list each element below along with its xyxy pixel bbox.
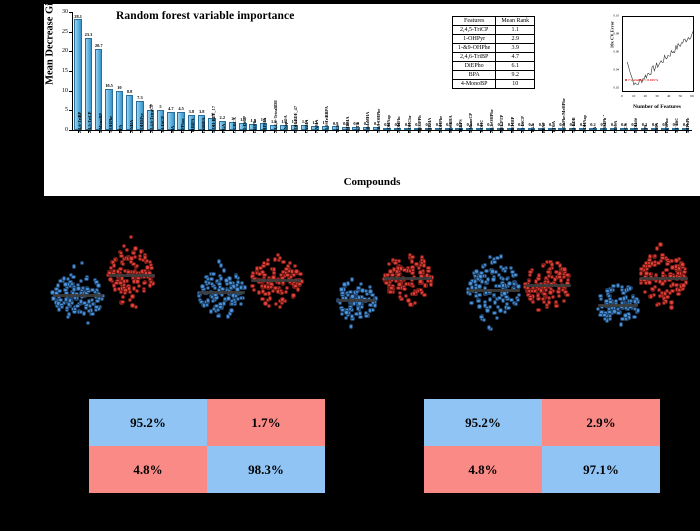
swarm-point bbox=[647, 280, 651, 284]
swarm-point bbox=[133, 246, 137, 250]
cell-feature: 1-&9-OHPhe bbox=[453, 44, 496, 53]
x-tick-label: 6-OHChr bbox=[408, 115, 412, 133]
x-tick-label: 2,4,6-TriBP bbox=[78, 112, 82, 133]
swarm-point bbox=[639, 281, 643, 285]
swarm-point bbox=[545, 260, 549, 264]
x-label-cell: 1,2-BDB bbox=[567, 133, 577, 177]
x-label-cell: 2,3,4,4'-TetraBDE bbox=[269, 133, 279, 177]
swarm-point bbox=[660, 253, 664, 257]
swarm-point bbox=[294, 269, 298, 273]
swarm-point bbox=[358, 311, 362, 315]
swarm-point bbox=[655, 303, 659, 307]
bar-item: 2.2 bbox=[217, 12, 227, 130]
swarm-point bbox=[90, 288, 94, 292]
swarm-point bbox=[137, 284, 141, 288]
x-label-cell: 2,5-DiCP bbox=[516, 133, 526, 177]
swarm-point bbox=[280, 291, 284, 295]
x-tick-label: 6-OH-BDE_47 bbox=[294, 106, 298, 133]
x-label-cell: 3,5,6-TriBBPA bbox=[320, 133, 330, 177]
bar-value-label: 2.2 bbox=[220, 116, 226, 120]
swarm-point bbox=[506, 306, 510, 310]
cv-y-tick-label: 0.02 bbox=[613, 86, 620, 89]
swarm-point bbox=[72, 264, 76, 268]
swarm-point bbox=[392, 267, 396, 271]
x-tick-label: 2,4,5-TriCP bbox=[88, 112, 92, 133]
swarm-point bbox=[263, 292, 267, 296]
x-label-cell: 4nOhPhe/MeHPhe bbox=[557, 133, 567, 177]
x-label-cell: THBPA bbox=[186, 133, 196, 177]
bar-item: 0.3 bbox=[536, 12, 546, 130]
x-label-cell: GCA bbox=[619, 133, 629, 177]
x-label-cell: MECPTP bbox=[495, 133, 505, 177]
swarm-point bbox=[284, 290, 288, 294]
cv-x-tick-label: 10 bbox=[632, 94, 635, 98]
swarm-point bbox=[676, 292, 680, 296]
swarm-point bbox=[477, 284, 481, 288]
swarm-point bbox=[485, 308, 489, 312]
x-label-cell: 4-MonoBP bbox=[94, 133, 104, 177]
swarm-point bbox=[108, 277, 112, 281]
swarm-point bbox=[612, 309, 616, 313]
table-body: 2,4,5-TriCP1.11-OHPyr2.91-&9-OHPhe3.92,4… bbox=[453, 26, 535, 89]
swarm-point bbox=[501, 277, 505, 281]
x-label-cell: 3,3'-DiCBPA bbox=[670, 133, 680, 177]
swarm-point bbox=[527, 279, 531, 283]
cv-x-axis-label: Number of Features bbox=[618, 104, 696, 110]
x-tick-label: HPS bbox=[644, 125, 648, 133]
swarm-point bbox=[503, 310, 507, 314]
confusion-matrix-left: 95.2%1.7%4.8%98.3% bbox=[88, 398, 326, 494]
bar-item: 0.6 bbox=[382, 12, 392, 130]
swarm-point bbox=[82, 301, 86, 305]
swarm-point bbox=[114, 281, 118, 285]
swarm-point bbox=[87, 309, 91, 313]
swarm-point bbox=[51, 296, 55, 300]
y-axis-label: Mean Decrease Gini bbox=[45, 0, 56, 100]
bar-item: 3.8 bbox=[197, 12, 207, 130]
swarm-point bbox=[229, 308, 233, 312]
swarm-point bbox=[619, 322, 623, 326]
x-label-cell: MA bbox=[166, 133, 176, 177]
swarm-point bbox=[218, 305, 222, 309]
swarm-point bbox=[206, 298, 210, 302]
median-line bbox=[337, 299, 375, 302]
swarm-point bbox=[129, 256, 133, 260]
x-label-cell: DHBMA bbox=[341, 133, 351, 177]
cv-x-tick-label: 0 bbox=[621, 94, 623, 98]
swarm-point bbox=[473, 279, 477, 283]
x-tick-label: GCA bbox=[624, 123, 628, 133]
x-label-cell: 4-OH-BDE_17 bbox=[207, 133, 217, 177]
swarm-point bbox=[599, 297, 603, 301]
swarm-point bbox=[671, 282, 675, 286]
swarm-point bbox=[665, 262, 669, 266]
swarm-plot-panel bbox=[0, 200, 700, 375]
x-label-cell: TGA bbox=[526, 133, 536, 177]
cell-mean-rank: 9.2 bbox=[496, 71, 535, 80]
bar-item: 0.2 bbox=[588, 12, 598, 130]
swarm-point bbox=[681, 283, 685, 287]
x-label-cell: 2,3,4,6-TetraCP bbox=[145, 133, 155, 177]
y-tick-mark bbox=[69, 91, 72, 92]
swarm-point bbox=[339, 287, 343, 291]
bar-item: 8.8 bbox=[124, 12, 134, 130]
x-label-cell: 3HPMA bbox=[423, 133, 433, 177]
swarm-point bbox=[94, 280, 98, 284]
x-tick-label: MECPPh bbox=[418, 115, 422, 133]
swarm-point bbox=[488, 297, 492, 301]
swarm-point bbox=[557, 294, 561, 298]
x-tick-label: 1-OHDPyr bbox=[140, 113, 144, 133]
swarm-point bbox=[674, 258, 678, 262]
bar-value-label: 20.7 bbox=[95, 44, 103, 48]
swarm-point bbox=[112, 263, 116, 267]
swarm-point bbox=[263, 301, 267, 305]
bar-item: 10.5 bbox=[104, 12, 114, 130]
x-tick-label: 3-&4-MHA bbox=[366, 112, 370, 133]
x-label-cell: BPA bbox=[114, 133, 124, 177]
swarm-point bbox=[555, 261, 559, 265]
swarm-point bbox=[80, 261, 84, 265]
swarm-point bbox=[58, 298, 62, 302]
bar-value-label: 4.5 bbox=[178, 107, 184, 111]
x-tick-label: 3,4-DiCP bbox=[161, 116, 165, 133]
bar-value-label: 10 bbox=[117, 86, 121, 90]
swarm-point bbox=[418, 279, 422, 283]
swarm-point bbox=[565, 293, 569, 297]
swarm-point bbox=[216, 314, 220, 318]
swarm-point bbox=[239, 302, 243, 306]
confusion-cell: 98.3% bbox=[207, 446, 325, 493]
x-tick-label: CVMA bbox=[305, 120, 309, 133]
swarm-point bbox=[84, 277, 88, 281]
swarm-point bbox=[234, 274, 238, 278]
swarm-point bbox=[423, 283, 427, 287]
swarm-point bbox=[662, 301, 666, 305]
swarm-point bbox=[268, 296, 272, 300]
swarm-point bbox=[502, 291, 506, 295]
swarm-point bbox=[483, 263, 487, 267]
bar-item: 1.4 bbox=[279, 12, 289, 130]
swarm-point bbox=[402, 268, 406, 272]
swarm-point bbox=[79, 279, 83, 283]
x-label-cell: BPAF bbox=[536, 133, 546, 177]
cv-x-tick-label: 20 bbox=[644, 94, 647, 98]
cell-feature: 1-OHPyr bbox=[453, 35, 496, 44]
swarm-point bbox=[562, 267, 566, 271]
swarm-point bbox=[350, 314, 354, 318]
swarm-point bbox=[273, 286, 277, 290]
bar-item: 0.6 bbox=[392, 12, 402, 130]
mean-rank-table: Features Mean Rank 2,4,5-TriCP1.11-OHPyr… bbox=[452, 16, 535, 89]
swarm-point bbox=[135, 289, 139, 293]
swarm-point bbox=[280, 297, 284, 301]
swarm-point bbox=[368, 308, 372, 312]
x-label-cell: 4HPhPhos bbox=[681, 133, 691, 177]
x-tick-label: 3HPMA bbox=[263, 118, 267, 133]
confusion-cell: 95.2% bbox=[424, 399, 542, 446]
table-row: BPA9.2 bbox=[453, 71, 535, 80]
swarm-point bbox=[542, 292, 546, 296]
x-tick-label: THBPA bbox=[191, 119, 195, 133]
swarm-point bbox=[650, 287, 654, 291]
bar-item: 0.5 bbox=[413, 12, 423, 130]
x-label-cell: 3,5-DiCP bbox=[238, 133, 248, 177]
table-header-row: Features Mean Rank bbox=[453, 17, 535, 26]
swarm-point bbox=[426, 269, 430, 273]
x-tick-label: DiNPhos bbox=[665, 117, 669, 133]
x-tick-label: AAMA bbox=[315, 120, 319, 133]
table-row: 1-OHPyr2.9 bbox=[453, 35, 535, 44]
x-label-cell: 2-NapOA bbox=[279, 133, 289, 177]
swarm-point bbox=[252, 288, 256, 292]
x-tick-label: 4-MonoBP bbox=[99, 113, 103, 133]
bar-value-label: 23.3 bbox=[85, 33, 93, 37]
x-label-cell: 1-&9-OHPhe bbox=[372, 133, 382, 177]
bar-item: 0.2 bbox=[578, 12, 588, 130]
swarm-point bbox=[219, 263, 223, 267]
swarm-point bbox=[477, 293, 481, 297]
swarm-point bbox=[548, 290, 552, 294]
swarm-point bbox=[149, 266, 153, 270]
swarm-point bbox=[72, 287, 76, 291]
swarm-column-red bbox=[632, 200, 696, 375]
x-label-cell: 4-MonoCP bbox=[464, 133, 474, 177]
swarm-point bbox=[387, 262, 391, 266]
swarm-point bbox=[410, 255, 414, 259]
x-label-cell: 2-OHFlu bbox=[392, 133, 402, 177]
x-tick-label: 1-&9-OHPhe bbox=[377, 109, 381, 133]
swarm-point bbox=[200, 284, 204, 288]
x-label-cell: DiEPho bbox=[248, 133, 258, 177]
cv-error-inset: 10x CV Error Number of Features 0.020.04… bbox=[604, 12, 696, 118]
bar-item: 5 bbox=[155, 12, 165, 130]
bar-value-label: 5 bbox=[159, 105, 161, 109]
bar-item: 0.5 bbox=[403, 12, 413, 130]
cell-mean-rank: 10 bbox=[496, 80, 535, 89]
x-tick-label: 4-OH-BDE_17 bbox=[212, 106, 216, 133]
median-line bbox=[109, 274, 155, 277]
x-tick-label: MWBHA bbox=[449, 115, 453, 133]
swarm-point bbox=[554, 304, 558, 308]
x-axis-tick-labels: 2,4,6-TriBP2,4,5-TriCP4-MonoBP1-OHPheBPA… bbox=[73, 133, 691, 177]
swarm-point bbox=[131, 251, 135, 255]
swarm-point bbox=[63, 282, 67, 286]
cv-annotation: 7 variables = 0.025% bbox=[628, 78, 658, 82]
cell-mean-rank: 3.9 bbox=[496, 44, 535, 53]
x-label-cell: 2,8,3-OHPhe bbox=[485, 133, 495, 177]
swarm-point bbox=[348, 290, 352, 294]
bar-value-label: 28.1 bbox=[74, 15, 82, 19]
swarm-point bbox=[66, 315, 70, 319]
swarm-point bbox=[95, 299, 99, 303]
swarm-point bbox=[357, 301, 361, 305]
swarm-point bbox=[364, 314, 368, 318]
swarm-point bbox=[655, 246, 659, 250]
x-label-cell: 1-OHPhe bbox=[104, 133, 114, 177]
swarm-point bbox=[356, 306, 360, 310]
swarm-point bbox=[128, 298, 132, 302]
bar-item: 4.7 bbox=[166, 12, 176, 130]
swarm-point bbox=[228, 281, 232, 285]
swarm-point bbox=[291, 293, 295, 297]
x-tick-label: BMA bbox=[655, 123, 659, 133]
swarm-point bbox=[142, 289, 146, 293]
x-tick-label: PGA bbox=[222, 124, 226, 133]
x-tick-label: 3-OHC bbox=[480, 120, 484, 133]
x-label-cell: CA bbox=[588, 133, 598, 177]
x-tick-label: 2-OHNap bbox=[583, 115, 587, 133]
confusion-cell: 95.2% bbox=[89, 399, 207, 446]
swarm-point bbox=[90, 312, 94, 316]
swarm-point bbox=[490, 269, 494, 273]
cv-y-tick-label: 0.06 bbox=[613, 50, 620, 53]
bar-series: 28.123.320.710.5108.87.3554.74.53.83.832… bbox=[73, 12, 691, 130]
swarm-point bbox=[607, 310, 611, 314]
confusion-cell: 4.8% bbox=[89, 446, 207, 493]
median-line bbox=[53, 294, 102, 297]
bar-item: 0.3 bbox=[567, 12, 577, 130]
x-tick-label: 4CTT bbox=[356, 122, 360, 133]
bar-item: 0.9 bbox=[330, 12, 340, 130]
swarm-point bbox=[562, 299, 566, 303]
x-label-cell: 8-OHdtG bbox=[629, 133, 639, 177]
x-label-cell: 1-OHDPyr bbox=[135, 133, 145, 177]
swarm-point bbox=[605, 289, 609, 293]
swarm-point bbox=[278, 305, 282, 309]
bar-value-label: 3.8 bbox=[189, 110, 195, 114]
bar-item: 0.5 bbox=[433, 12, 443, 130]
table-row: 1-&9-OHPhe3.9 bbox=[453, 44, 535, 53]
swarm-point bbox=[429, 282, 433, 286]
median-line bbox=[468, 289, 519, 292]
x-tick-label: TBBPS bbox=[459, 119, 463, 133]
bar-value-label: 7.3 bbox=[137, 96, 143, 100]
x-tick-label: 8-OHdtG bbox=[634, 116, 638, 133]
swarm-point bbox=[54, 287, 58, 291]
confusion-cell: 2.9% bbox=[542, 399, 660, 446]
x-label-cell: 1-OHNap bbox=[382, 133, 392, 177]
x-tick-label: 2,3,4,6-TetraCP bbox=[150, 104, 154, 133]
swarm-point bbox=[257, 272, 261, 276]
x-label-cell: HPS bbox=[639, 133, 649, 177]
x-label-cell: BMA bbox=[650, 133, 660, 177]
swarm-point bbox=[492, 257, 496, 261]
swarm-point bbox=[368, 289, 372, 293]
x-tick-label: CA bbox=[593, 127, 597, 133]
swarm-point bbox=[422, 293, 426, 297]
confusion-matrix-right: 95.2%2.9%4.8%97.1% bbox=[423, 398, 661, 494]
swarm-point bbox=[499, 254, 503, 258]
swarm-point bbox=[272, 267, 276, 271]
cell-feature: 4-MonoBP bbox=[453, 80, 496, 89]
y-tick-mark bbox=[69, 32, 72, 33]
x-label-cell: CDCA bbox=[608, 133, 618, 177]
x-tick-label: 4-MonoCP bbox=[469, 113, 473, 133]
cell-feature: 2,4,6-TriBP bbox=[453, 53, 496, 62]
swarm-point bbox=[338, 301, 342, 305]
x-label-cell: 4-OHPhe bbox=[433, 133, 443, 177]
swarm-point bbox=[284, 267, 288, 271]
swarm-point bbox=[222, 268, 226, 272]
swarm-point bbox=[658, 242, 662, 246]
cv-x-tick-label: 40 bbox=[667, 94, 670, 98]
x-label-cell: PGA bbox=[217, 133, 227, 177]
median-line bbox=[199, 291, 245, 294]
x-label-cell: CVMA bbox=[300, 133, 310, 177]
swarm-point bbox=[217, 259, 221, 263]
cell-feature: DiEPho bbox=[453, 62, 496, 71]
swarm-point bbox=[60, 305, 64, 309]
swarm-point bbox=[85, 287, 89, 291]
swarm-point bbox=[551, 295, 555, 299]
swarm-point bbox=[616, 283, 620, 287]
swarm-point bbox=[469, 301, 473, 305]
bar-item: 10 bbox=[114, 12, 124, 130]
swarm-point bbox=[473, 274, 477, 278]
swarm-column-red bbox=[244, 200, 308, 375]
bar-value-label: 3.8 bbox=[199, 110, 205, 114]
x-label-cell: TBBPS bbox=[454, 133, 464, 177]
swarm-point bbox=[669, 300, 673, 304]
swarm-point bbox=[658, 279, 662, 283]
swarm-point bbox=[71, 275, 75, 279]
x-tick-label: GCDCA bbox=[233, 117, 237, 133]
swarm-point bbox=[202, 303, 206, 307]
swarm-point bbox=[281, 260, 285, 264]
x-label-cell: DiBBPA bbox=[197, 133, 207, 177]
swarm-point bbox=[260, 297, 264, 301]
swarm-point bbox=[547, 296, 551, 300]
swarm-point bbox=[211, 299, 215, 303]
swarm-point bbox=[350, 277, 354, 281]
cell-feature: 2,4,5-TriCP bbox=[453, 26, 496, 35]
x-label-cell: AAMA bbox=[310, 133, 320, 177]
bar-item: 1.8 bbox=[258, 12, 268, 130]
bar-item: 0.8 bbox=[341, 12, 351, 130]
x-tick-label: 2,5-DiCP bbox=[521, 116, 525, 133]
swarm-point bbox=[665, 289, 669, 293]
x-label-cell: TCS bbox=[330, 133, 340, 177]
swarm-point bbox=[501, 283, 505, 287]
swarm-point bbox=[622, 296, 626, 300]
bar-item: 1.5 bbox=[248, 12, 258, 130]
x-label-cell: 3-&4-MHA bbox=[361, 133, 371, 177]
swarm-point bbox=[258, 266, 262, 270]
x-tick-label: MECPTP bbox=[500, 115, 504, 133]
swarm-point bbox=[536, 308, 540, 312]
swarm-point bbox=[656, 261, 660, 265]
x-label-cell: 3HPMA bbox=[258, 133, 268, 177]
x-label-cell: MWBHA bbox=[444, 133, 454, 177]
x-tick-label: DiEPho bbox=[253, 119, 257, 133]
swarm-point bbox=[528, 297, 532, 301]
swarm-point bbox=[134, 305, 138, 309]
swarm-point bbox=[408, 302, 412, 306]
swarm-point bbox=[142, 281, 146, 285]
bar-item: 1.9 bbox=[238, 12, 248, 130]
x-tick-label: 3HPMA bbox=[428, 118, 432, 133]
bar-value-label: 8.8 bbox=[127, 90, 133, 94]
swarm-point bbox=[349, 324, 353, 328]
x-tick-label: 4nOhPhe/MeHPhe bbox=[562, 98, 566, 133]
swarm-point bbox=[653, 254, 657, 258]
cv-y-tick-label: 0.10 bbox=[613, 14, 620, 17]
swarm-point bbox=[650, 261, 654, 265]
swarm-point bbox=[477, 304, 481, 308]
table-row: 2,4,5-TriCP1.1 bbox=[453, 26, 535, 35]
y-tick-mark bbox=[69, 130, 72, 131]
